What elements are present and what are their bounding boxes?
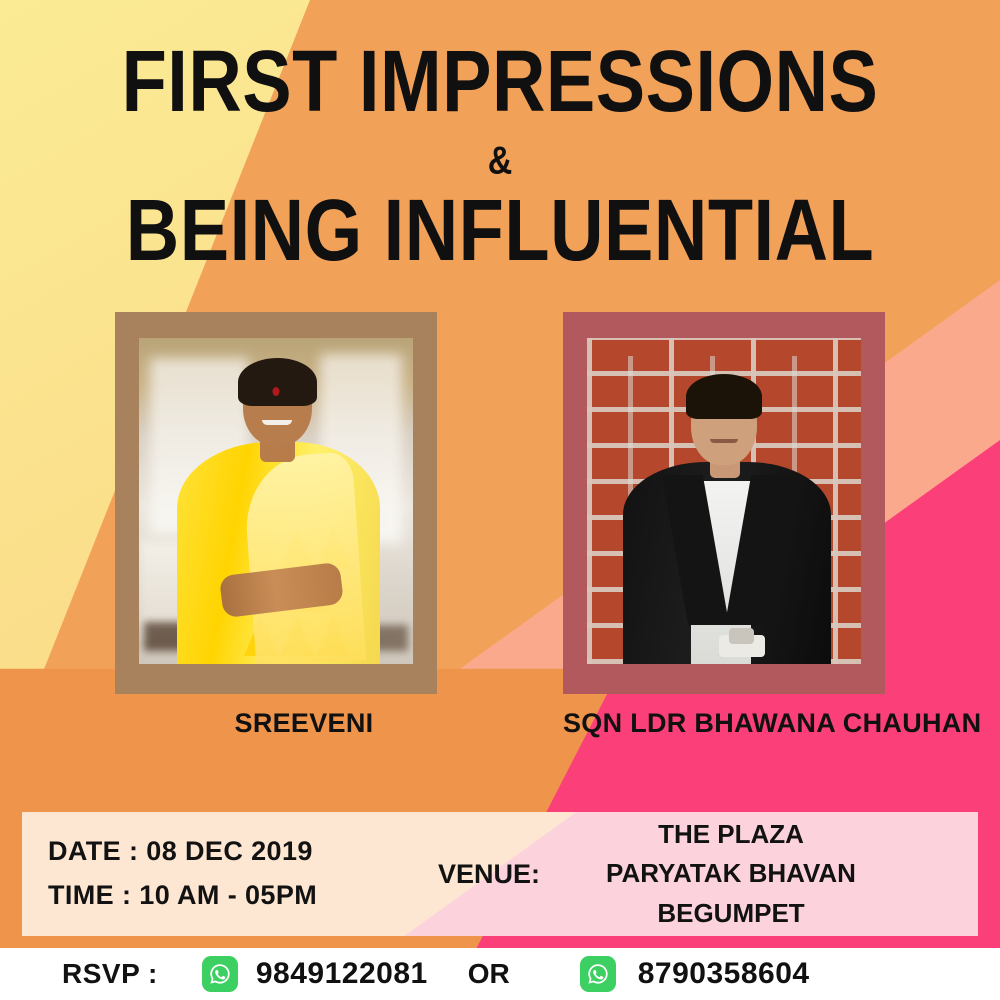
photo-smile xyxy=(710,439,737,443)
event-time: TIME : 10 AM - 05PM xyxy=(48,874,428,918)
venue-line-1: THE PLAZA xyxy=(540,815,922,855)
title-line-being-influential: BEING INFLUENTIAL xyxy=(0,187,1000,274)
photo-wristwatch xyxy=(729,628,754,644)
photo-frame-right xyxy=(563,312,885,694)
rsvp-separator: OR xyxy=(468,958,510,990)
speaker-photo-sreeveni xyxy=(139,338,413,664)
photo-smile xyxy=(262,420,292,425)
photo-frame-left xyxy=(115,312,437,694)
venue-line-2: PARYATAK BHAVAN xyxy=(540,854,922,894)
title-ampersand: & xyxy=(0,139,1000,184)
date-time-block: DATE : 08 DEC 2019 TIME : 10 AM - 05PM xyxy=(48,830,428,917)
photo-hair xyxy=(686,374,763,420)
venue-line-3: BEGUMPET xyxy=(540,894,922,934)
poster-title: FIRST IMPRESSIONS & BEING INFLUENTIAL xyxy=(0,38,1000,261)
whatsapp-icon[interactable] xyxy=(580,956,616,992)
event-date: DATE : 08 DEC 2019 xyxy=(48,830,428,874)
event-details-card: DATE : 08 DEC 2019 TIME : 10 AM - 05PM V… xyxy=(22,812,978,936)
speaker-name-bhawana: SQN LDR BHAWANA CHAUHAN xyxy=(563,708,885,739)
rsvp-phone-1[interactable]: 9849122081 xyxy=(256,957,428,991)
speaker-section: SREEVENI xyxy=(0,312,1000,739)
speaker-photo-bhawana xyxy=(587,338,861,664)
photo-hair xyxy=(238,358,317,407)
rsvp-label: RSVP : xyxy=(62,958,158,990)
title-line-first-impressions: FIRST IMPRESSIONS xyxy=(0,38,1000,125)
rsvp-bar: RSVP : 9849122081 OR 8790358604 xyxy=(0,948,1000,1000)
venue-address: THE PLAZA PARYATAK BHAVAN BEGUMPET xyxy=(540,815,952,934)
venue-label: VENUE: xyxy=(438,859,540,890)
photo-bindi xyxy=(273,387,280,396)
speaker-card-sreeveni: SREEVENI xyxy=(115,312,437,739)
speaker-card-bhawana: SQN LDR BHAWANA CHAUHAN xyxy=(563,312,885,739)
photo-sari-drape xyxy=(241,452,365,664)
speaker-name-sreeveni: SREEVENI xyxy=(143,708,465,739)
rsvp-phone-2[interactable]: 8790358604 xyxy=(638,957,810,991)
event-poster: FIRST IMPRESSIONS & BEING INFLUENTIAL xyxy=(0,0,1000,1000)
whatsapp-icon[interactable] xyxy=(202,956,238,992)
